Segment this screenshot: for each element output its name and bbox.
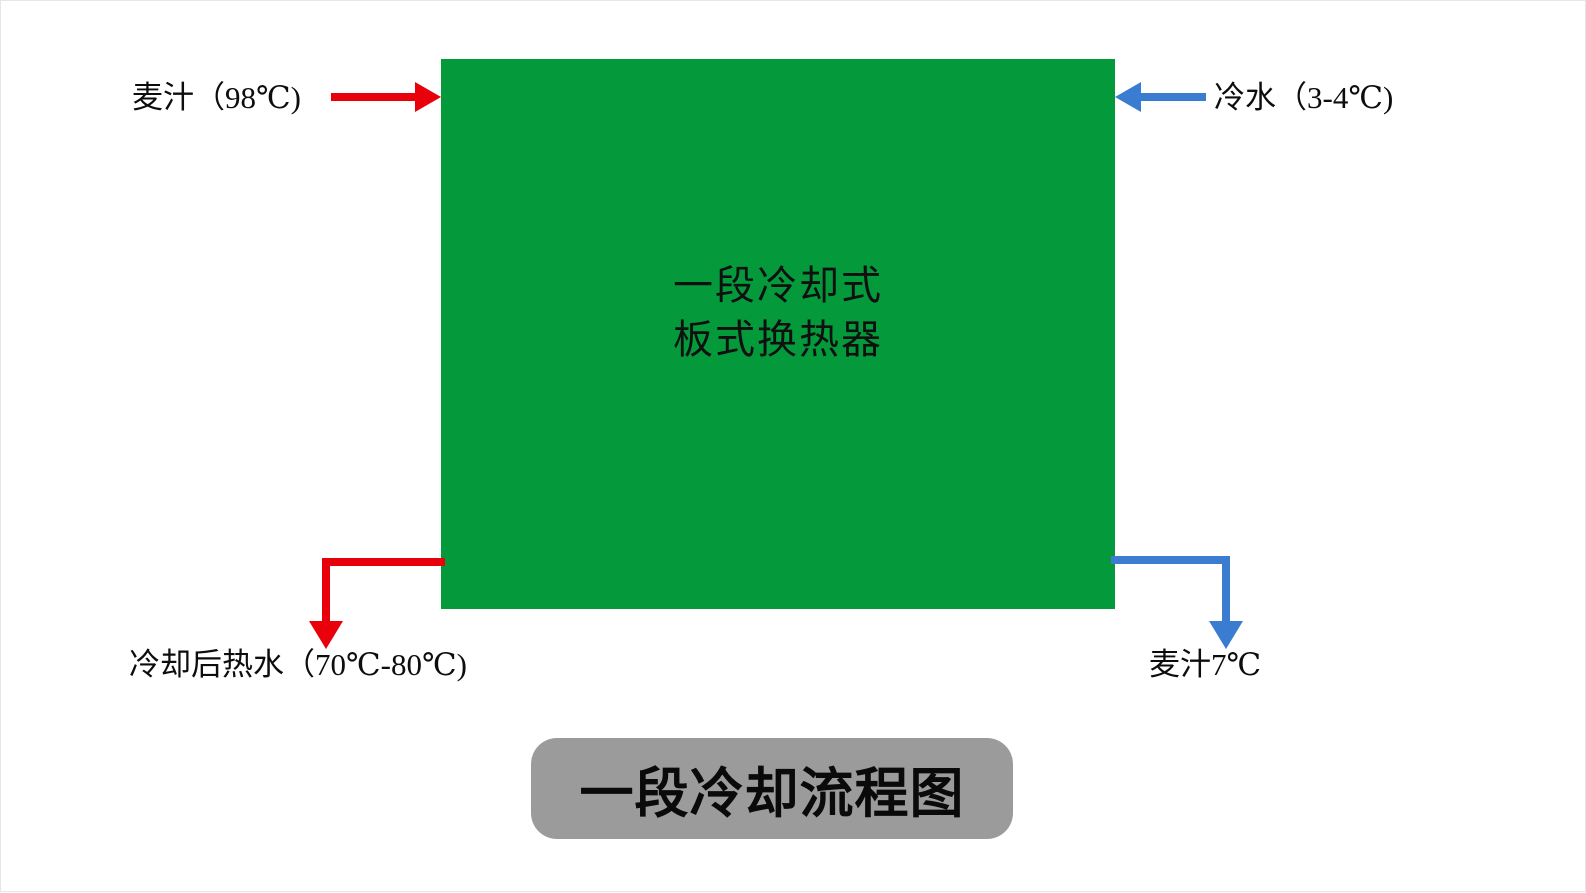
hot-water-outlet-label: 冷却后热水（70℃-80℃) bbox=[129, 646, 467, 684]
wort-inlet-arrow bbox=[331, 82, 441, 112]
wort-outlet-label: 麦汁7℃ bbox=[1149, 646, 1261, 684]
wort-inlet-label: 麦汁（98℃) bbox=[132, 79, 301, 117]
wort-outlet-arrow bbox=[1115, 560, 1243, 649]
heat-exchanger-label: 一段冷却式 板式换热器 bbox=[441, 259, 1115, 367]
cold-water-inlet-arrow bbox=[1115, 82, 1206, 112]
title-banner: 一段冷却流程图 bbox=[531, 738, 1013, 839]
diagram-title: 一段冷却流程图 bbox=[580, 749, 965, 828]
hot-water-outlet-arrow bbox=[309, 562, 441, 649]
cold-water-inlet-label: 冷水（3-4℃) bbox=[1214, 79, 1393, 117]
diagram-canvas: 一段冷却式 板式换热器 麦汁（98℃) 冷水（3-4℃) 冷 bbox=[0, 0, 1586, 892]
